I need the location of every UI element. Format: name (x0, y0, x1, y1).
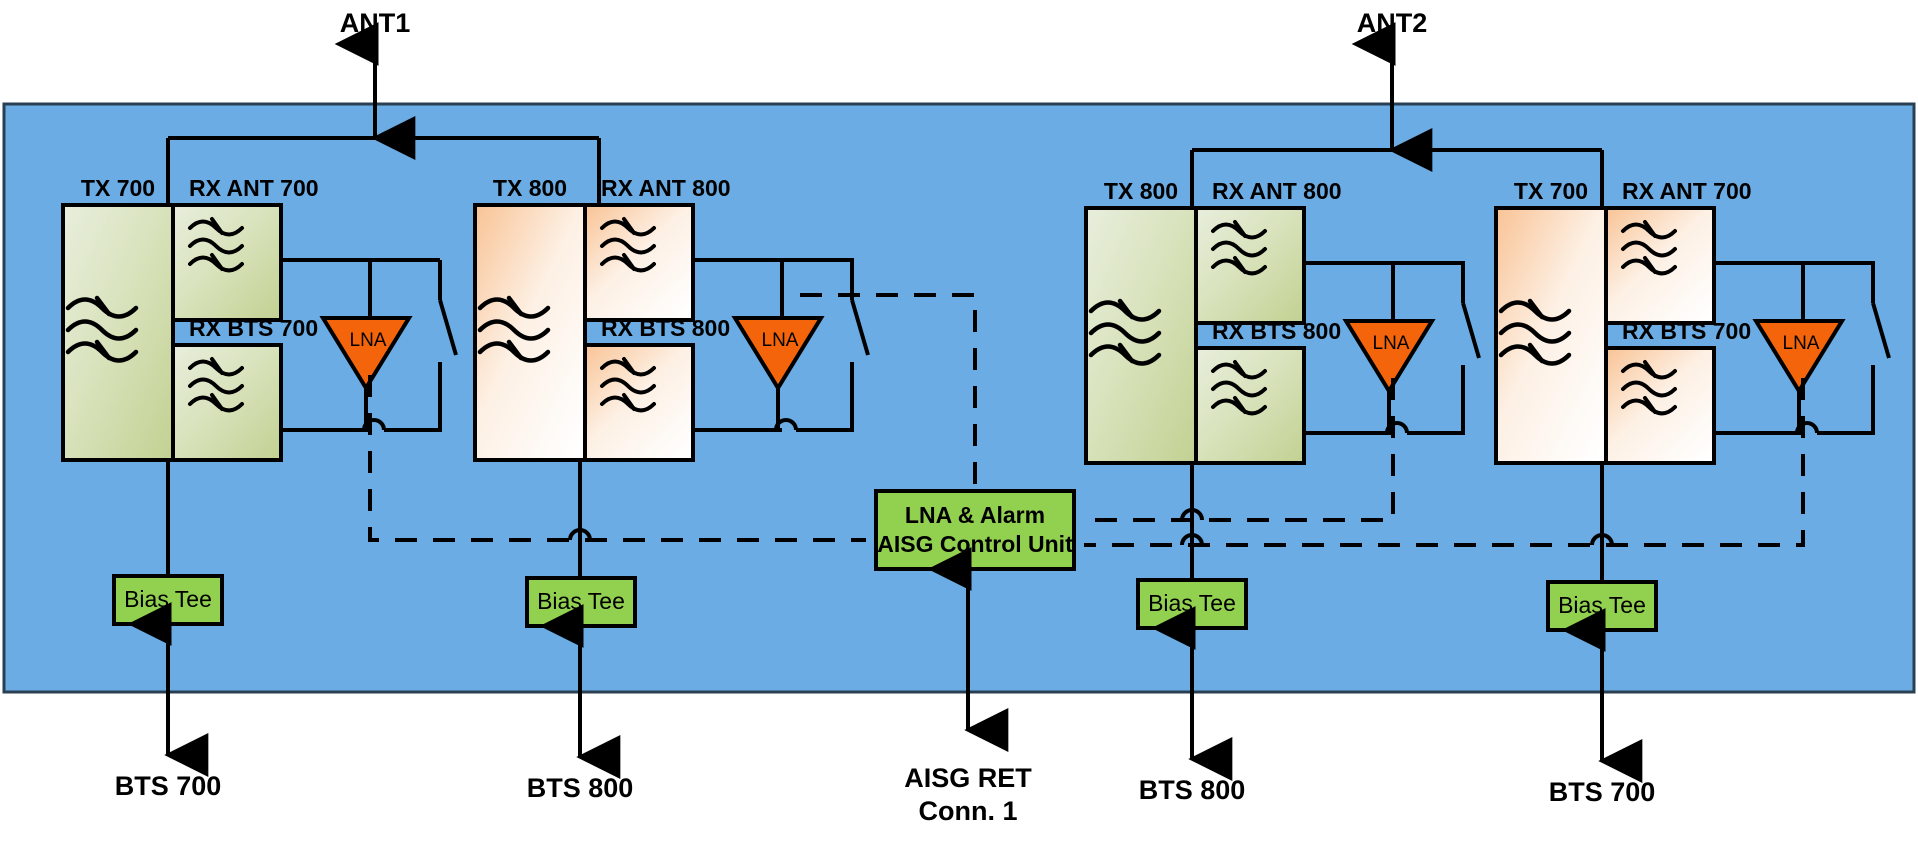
tx-filter-block (475, 205, 585, 460)
aisg-ret-label-line2: Conn. 1 (919, 796, 1018, 826)
rx-ant-filter-label: RX ANT 700 (1622, 178, 1752, 204)
aisg-ret-label-line1: AISG RET (904, 763, 1032, 793)
bts-port-label: BTS 700 (1549, 777, 1656, 807)
rx-bts-filter-label: RX BTS 800 (601, 315, 730, 341)
lna-label: LNA (1783, 333, 1820, 354)
bias-tee-4-group: Bias Tee BTS 700 (1548, 582, 1656, 807)
bts-port-label: BTS 800 (527, 773, 634, 803)
ant1-label: ANT1 (340, 8, 411, 38)
rx-bts-filter-label: RX BTS 800 (1212, 318, 1341, 344)
control-unit-line2: AISG Control Unit (877, 531, 1073, 557)
bias-tee-label: Bias Tee (124, 586, 212, 612)
bts-port-label: BTS 800 (1139, 775, 1246, 805)
bias-tee-label: Bias Tee (1148, 590, 1236, 616)
tma-block-diagram: ANT1 ANT2 TX 700 RX ANT 700 (0, 0, 1918, 850)
rx-ant-filter-label: RX ANT 700 (189, 175, 319, 201)
bts-port-label: BTS 700 (115, 771, 222, 801)
rx-bts-filter-label: RX BTS 700 (189, 315, 318, 341)
lna-label: LNA (350, 330, 387, 351)
tx-filter-label: TX 700 (81, 175, 155, 201)
bias-tee-label: Bias Tee (1558, 592, 1646, 618)
rx-ant-filter-label: RX ANT 800 (1212, 178, 1342, 204)
rx-ant-filter-label: RX ANT 800 (601, 175, 731, 201)
tx-filter-label: TX 700 (1514, 178, 1588, 204)
tx-filter-label: TX 800 (1104, 178, 1178, 204)
diagram-canvas: ANT1 ANT2 TX 700 RX ANT 700 (0, 0, 1918, 850)
tx-filter-block (1086, 208, 1196, 463)
ant2-label: ANT2 (1357, 8, 1428, 38)
tx-filter-block (1496, 208, 1606, 463)
rx-bts-filter-label: RX BTS 700 (1622, 318, 1751, 344)
tx-filter-label: TX 800 (493, 175, 567, 201)
control-unit-line1: LNA & Alarm (905, 502, 1045, 528)
tx-filter-block (63, 205, 173, 460)
bias-tee-label: Bias Tee (537, 588, 625, 614)
lna-label: LNA (1373, 333, 1410, 354)
lna-label: LNA (762, 330, 799, 351)
